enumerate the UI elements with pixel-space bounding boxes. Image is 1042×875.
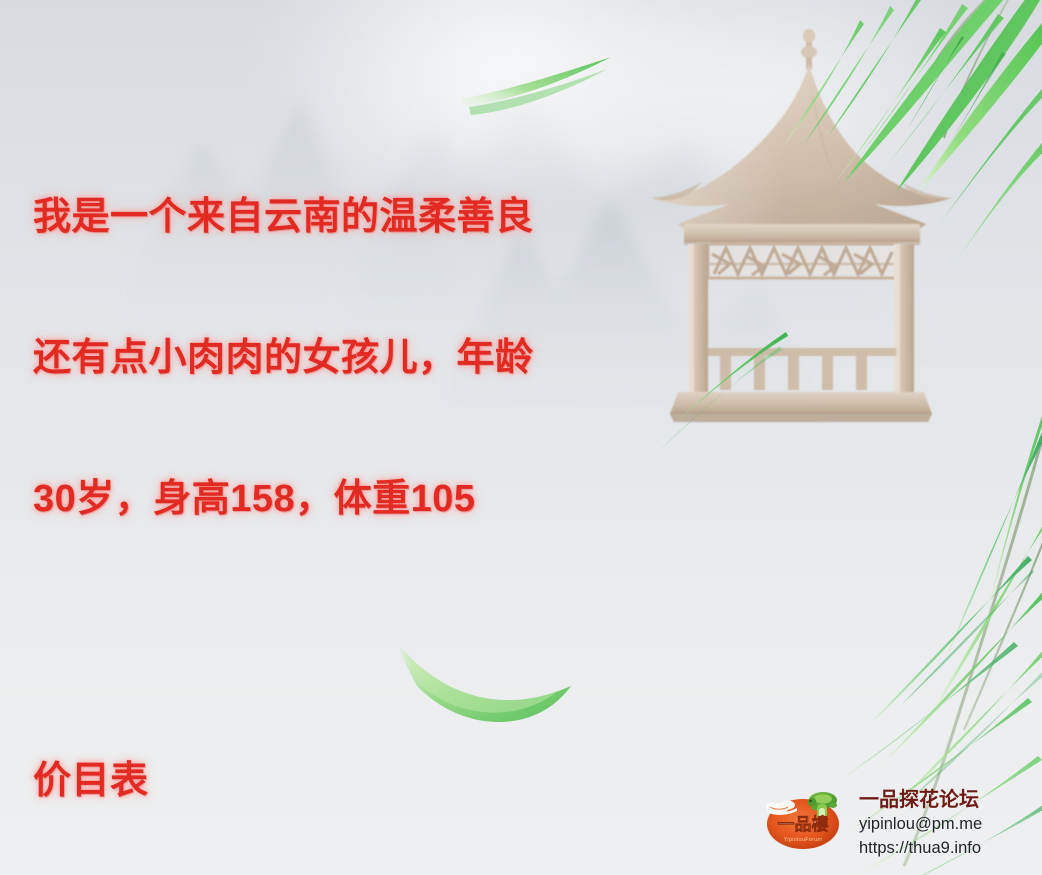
forum-email: yipinlou@pm.me xyxy=(859,812,982,836)
forum-watermark: 一品樓 YipinlouForum 一品探花论坛 yipinlou@pm.me … xyxy=(757,786,1037,868)
poster-canvas: 我是一个来自云南的温柔善良 还有点小肉肉的女孩儿，年龄 30岁，身高158，体重… xyxy=(0,0,1042,875)
yipinlou-forum-logo-icon: 一品樓 YipinlouForum xyxy=(757,786,849,856)
spacer-line xyxy=(33,617,633,664)
forum-name: 一品探花论坛 xyxy=(859,788,982,812)
chinese-pavilion-illustration xyxy=(626,18,966,438)
watermark-text-block: 一品探花论坛 yipinlou@pm.me https://thua9.info xyxy=(859,786,982,860)
intro-line-3: 30岁，身高158，体重105 xyxy=(33,476,633,523)
svg-text:一品樓: 一品樓 xyxy=(778,814,829,834)
intro-line-1: 我是一个来自云南的温柔善良 xyxy=(33,194,633,241)
poster-copy: 我是一个来自云南的温柔善良 还有点小肉肉的女孩儿，年龄 30岁，身高158，体重… xyxy=(33,100,633,875)
pricelist-heading: 价目表 xyxy=(33,758,633,805)
intro-line-2: 还有点小肉肉的女孩儿，年龄 xyxy=(33,335,633,382)
svg-text:YipinlouForum: YipinlouForum xyxy=(784,837,822,843)
forum-url: https://thua9.info xyxy=(859,836,982,860)
